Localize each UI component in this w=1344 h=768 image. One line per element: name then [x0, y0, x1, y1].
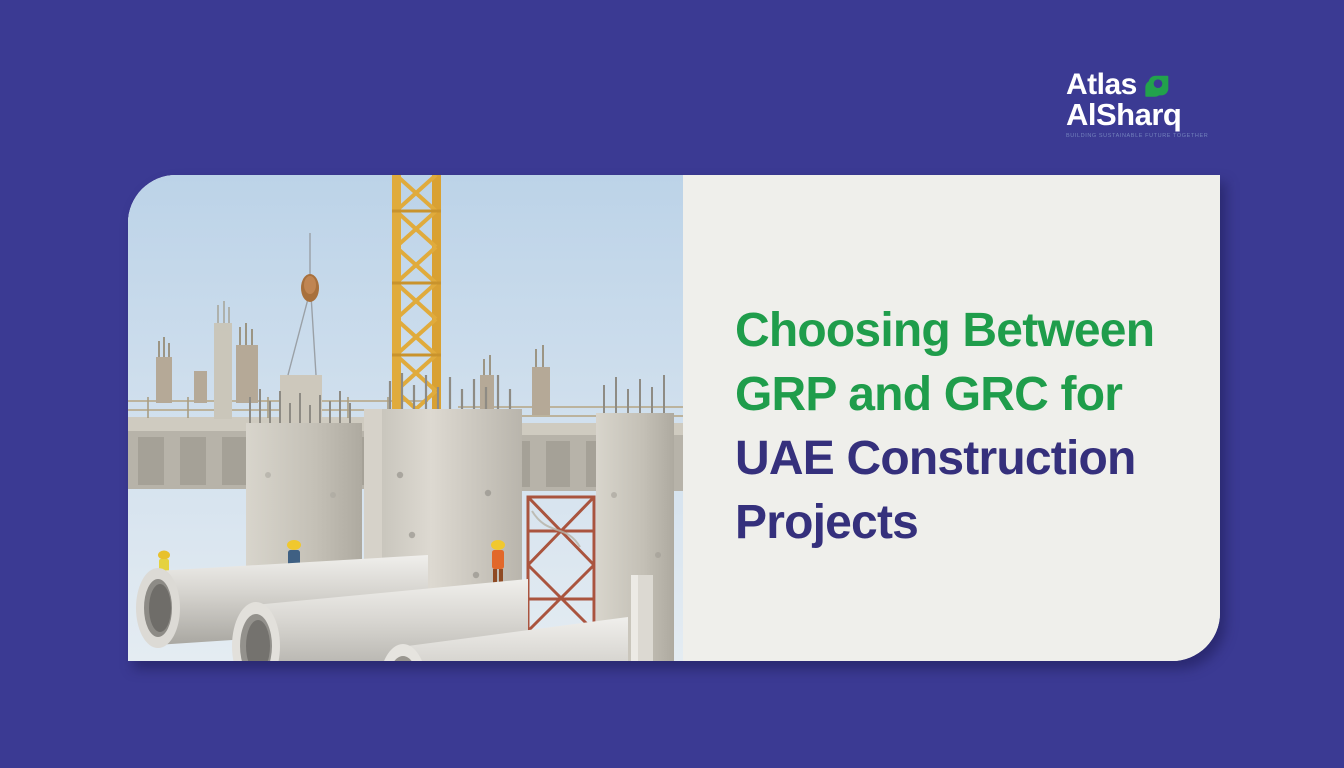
brand-logo[interactable]: Atlas AlSharq BUILDING SUSTAINABLE FUTUR… [1066, 70, 1226, 139]
brand-name-line2: AlSharq [1066, 99, 1181, 131]
content-card: Choosing Between GRP and GRC for UAE Con… [128, 175, 1220, 661]
slide-canvas: Atlas AlSharq BUILDING SUSTAINABLE FUTUR… [0, 0, 1344, 768]
brand-name-line1: Atlas [1066, 70, 1137, 101]
brand-tagline: BUILDING SUSTAINABLE FUTURE TOGETHER [1066, 133, 1226, 139]
headline-pane: Choosing Between GRP and GRC for UAE Con… [683, 175, 1220, 661]
page-title: Choosing Between GRP and GRC for UAE Con… [735, 299, 1220, 555]
headline-line-1: Choosing Between [735, 299, 1220, 363]
construction-site-photo [128, 175, 683, 661]
headline-line-4: Projects [735, 491, 1220, 555]
brand-logo-bottom-row: AlSharq [1066, 101, 1226, 131]
atlas-alsharq-logo-mark-icon [1143, 71, 1173, 101]
headline-line-2: GRP and GRC for [735, 363, 1220, 427]
headline-line-3: UAE Construction [735, 427, 1220, 491]
